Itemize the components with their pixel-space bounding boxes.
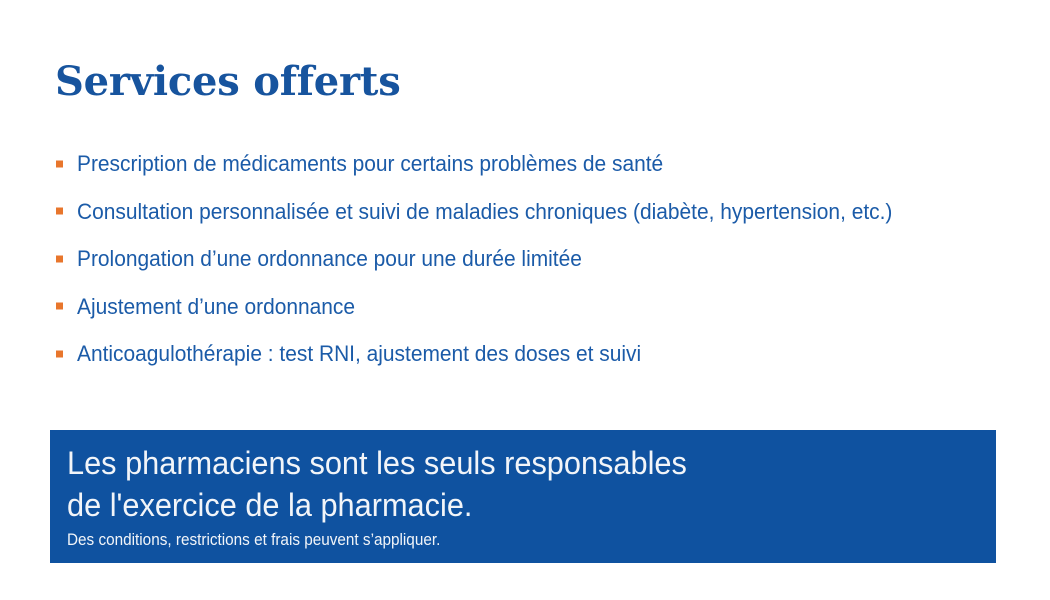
callout-heading-line-2: de l'exercice de la pharmacie. bbox=[67, 484, 959, 526]
list-item-label: Ajustement d’une ordonnance bbox=[77, 293, 355, 320]
list-item: Anticoagulothérapie : test RNI, ajusteme… bbox=[55, 330, 1035, 378]
list-item: Prescription de médicaments pour certain… bbox=[55, 140, 1035, 188]
square-bullet-icon bbox=[56, 160, 63, 167]
square-bullet-icon bbox=[56, 303, 63, 310]
page-title: Services offerts bbox=[55, 58, 401, 106]
callout-heading: Les pharmaciens sont les seuls responsab… bbox=[67, 442, 959, 526]
services-bullet-list: Prescription de médicaments pour certain… bbox=[55, 140, 1035, 378]
list-item: Prolongation d’une ordonnance pour une d… bbox=[55, 235, 1035, 283]
callout-note: Des conditions, restrictions et frais pe… bbox=[67, 529, 903, 551]
list-item-label: Consultation personnalisée et suivi de m… bbox=[77, 198, 892, 225]
list-item: Consultation personnalisée et suivi de m… bbox=[55, 188, 1035, 236]
slide: Services offerts Prescription de médicam… bbox=[0, 0, 1050, 600]
square-bullet-icon bbox=[56, 350, 63, 357]
square-bullet-icon bbox=[56, 255, 63, 262]
list-item-label: Prescription de médicaments pour certain… bbox=[77, 150, 663, 177]
list-item-label: Anticoagulothérapie : test RNI, ajusteme… bbox=[77, 340, 641, 367]
callout-heading-line-1: Les pharmaciens sont les seuls responsab… bbox=[67, 442, 959, 484]
list-item-label: Prolongation d’une ordonnance pour une d… bbox=[77, 245, 582, 272]
square-bullet-icon bbox=[56, 208, 63, 215]
list-item: Ajustement d’une ordonnance bbox=[55, 283, 1035, 331]
callout-banner: Les pharmaciens sont les seuls responsab… bbox=[50, 430, 996, 563]
